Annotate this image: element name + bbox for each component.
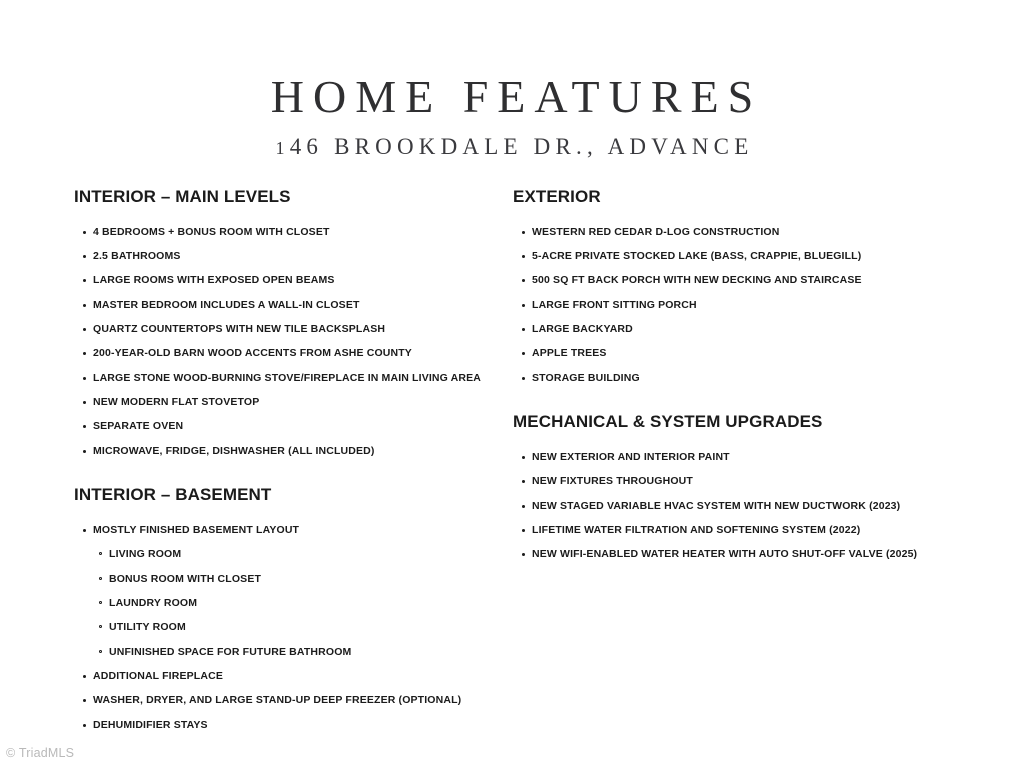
page-subtitle-address: 146 BROOKDALE DR., ADVANCE (0, 120, 1024, 160)
layout-spacer (74, 360, 504, 373)
feature-item: DEHUMIDIFIER STAYS (74, 720, 504, 732)
feature-item: LARGE BACKYARD (513, 324, 943, 336)
feature-item: QUARTZ COUNTERTOPS WITH NEW TILE BACKSPL… (74, 324, 504, 336)
right-column: EXTERIORWESTERN RED CEDAR D-LOG CONSTRUC… (513, 188, 943, 561)
feature-item: ADDITIONAL FIREPLACE (74, 671, 504, 683)
address-number-prefix: 1 (276, 138, 290, 158)
layout-spacer (513, 432, 943, 452)
layout-spacer (74, 634, 504, 647)
left-column: INTERIOR – MAIN LEVELS4 BEDROOMS + BONUS… (74, 188, 504, 731)
layout-spacer (74, 207, 504, 227)
feature-item: MICROWAVE, FRIDGE, DISHWASHER (ALL INCLU… (74, 446, 504, 458)
feature-item: WESTERN RED CEDAR D-LOG CONSTRUCTION (513, 227, 943, 239)
feature-item: 200-YEAR-OLD BARN WOOD ACCENTS FROM ASHE… (74, 348, 504, 360)
feature-subitem: UNFINISHED SPACE FOR FUTURE BATHROOM (74, 647, 504, 659)
feature-item: NEW STAGED VARIABLE HVAC SYSTEM WITH NEW… (513, 501, 943, 513)
section-heading-interior-basement: INTERIOR – BASEMENT (74, 486, 504, 505)
layout-spacer (513, 488, 943, 501)
section-heading-interior-main-levels: INTERIOR – MAIN LEVELS (74, 188, 504, 207)
feature-item: 4 BEDROOMS + BONUS ROOM WITH CLOSET (74, 227, 504, 239)
layout-spacer (74, 433, 504, 446)
layout-spacer (513, 360, 943, 373)
address-rest: 46 BROOKDALE DR., ADVANCE (290, 134, 754, 159)
page-title: HOME FEATURES (0, 74, 1024, 120)
feature-item: MASTER BEDROOM INCLUDES A WALL-IN CLOSET (74, 300, 504, 312)
feature-item: LARGE ROOMS WITH EXPOSED OPEN BEAMS (74, 275, 504, 287)
layout-spacer (513, 384, 943, 413)
layout-spacer (513, 207, 943, 227)
feature-subitem: LIVING ROOM (74, 549, 504, 561)
layout-spacer (74, 457, 504, 486)
feature-subitem: BONUS ROOM WITH CLOSET (74, 574, 504, 586)
feature-item: WASHER, DRYER, AND LARGE STAND-UP DEEP F… (74, 695, 504, 707)
layout-spacer (74, 707, 504, 720)
layout-spacer (74, 561, 504, 574)
feature-list: 4 BEDROOMS + BONUS ROOM WITH CLOSET2.5 B… (74, 227, 504, 458)
feature-item: NEW MODERN FLAT STOVETOP (74, 397, 504, 409)
feature-item: MOSTLY FINISHED BASEMENT LAYOUT (74, 525, 504, 537)
feature-list: MOSTLY FINISHED BASEMENT LAYOUTLIVING RO… (74, 525, 504, 731)
layout-spacer (74, 505, 504, 525)
feature-item: 2.5 BATHROOMS (74, 251, 504, 263)
layout-spacer (513, 287, 943, 300)
document-header: HOME FEATURES 146 BROOKDALE DR., ADVANCE (0, 0, 1024, 160)
feature-subitem: LAUNDRY ROOM (74, 598, 504, 610)
feature-item: APPLE TREES (513, 348, 943, 360)
feature-item: 500 SQ FT BACK PORCH WITH NEW DECKING AN… (513, 275, 943, 287)
feature-item: NEW EXTERIOR AND INTERIOR PAINT (513, 452, 943, 464)
feature-list: NEW EXTERIOR AND INTERIOR PAINTNEW FIXTU… (513, 452, 943, 561)
feature-item: SEPARATE OVEN (74, 421, 504, 433)
section-heading-exterior: EXTERIOR (513, 188, 943, 207)
feature-item: LARGE STONE WOOD-BURNING STOVE/FIREPLACE… (74, 373, 504, 385)
layout-spacer (74, 287, 504, 300)
feature-subitem: UTILITY ROOM (74, 622, 504, 634)
feature-item: STORAGE BUILDING (513, 373, 943, 385)
feature-item: NEW FIXTURES THROUGHOUT (513, 476, 943, 488)
feature-list: WESTERN RED CEDAR D-LOG CONSTRUCTION5-AC… (513, 227, 943, 385)
feature-item: LARGE FRONT SITTING PORCH (513, 300, 943, 312)
section-heading-mechanical-system-upgrades: MECHANICAL & SYSTEM UPGRADES (513, 413, 943, 432)
feature-item: LIFETIME WATER FILTRATION AND SOFTENING … (513, 525, 943, 537)
feature-item: 5-ACRE PRIVATE STOCKED LAKE (BASS, CRAPP… (513, 251, 943, 263)
feature-item: NEW WIFI-ENABLED WATER HEATER WITH AUTO … (513, 549, 943, 561)
feature-sublist: LIVING ROOMBONUS ROOM WITH CLOSETLAUNDRY… (74, 537, 504, 659)
mls-watermark: © TriadMLS (6, 746, 74, 760)
